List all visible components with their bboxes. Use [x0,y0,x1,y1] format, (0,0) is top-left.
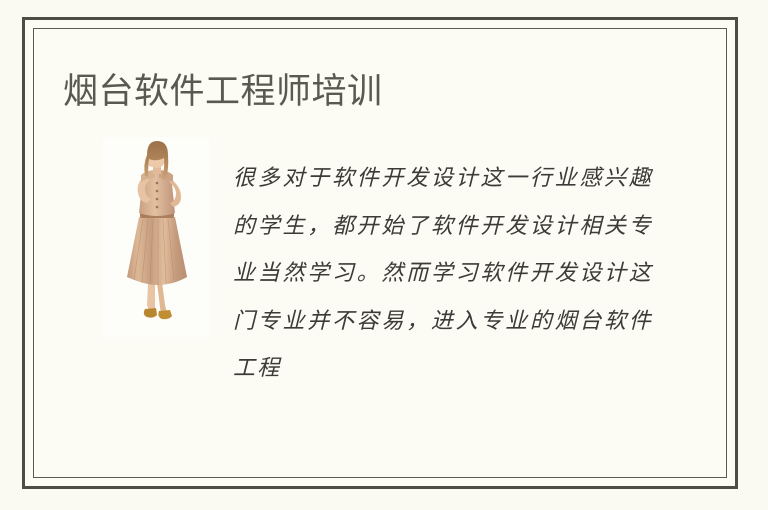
page-root: 烟台软件工程师培训 [0,0,768,510]
decorative-inner-frame: 烟台软件工程师培训 [33,28,727,478]
woman-in-dress-photo [103,137,209,337]
article-figure [103,137,209,337]
page-title: 烟台软件工程师培训 [63,73,383,112]
woman-in-dress-illustration [103,137,209,337]
article-body: 很多对于软件开发设计这一行业感兴趣的学生，都开始了软件开发设计相关专业当然学习。… [63,137,708,467]
article-paragraph: 很多对于软件开发设计这一行业感兴趣的学生，都开始了软件开发设计相关专业当然学习。… [233,155,653,393]
decorative-outer-frame: 烟台软件工程师培训 [22,17,738,489]
article-card: 烟台软件工程师培训 [34,29,726,477]
